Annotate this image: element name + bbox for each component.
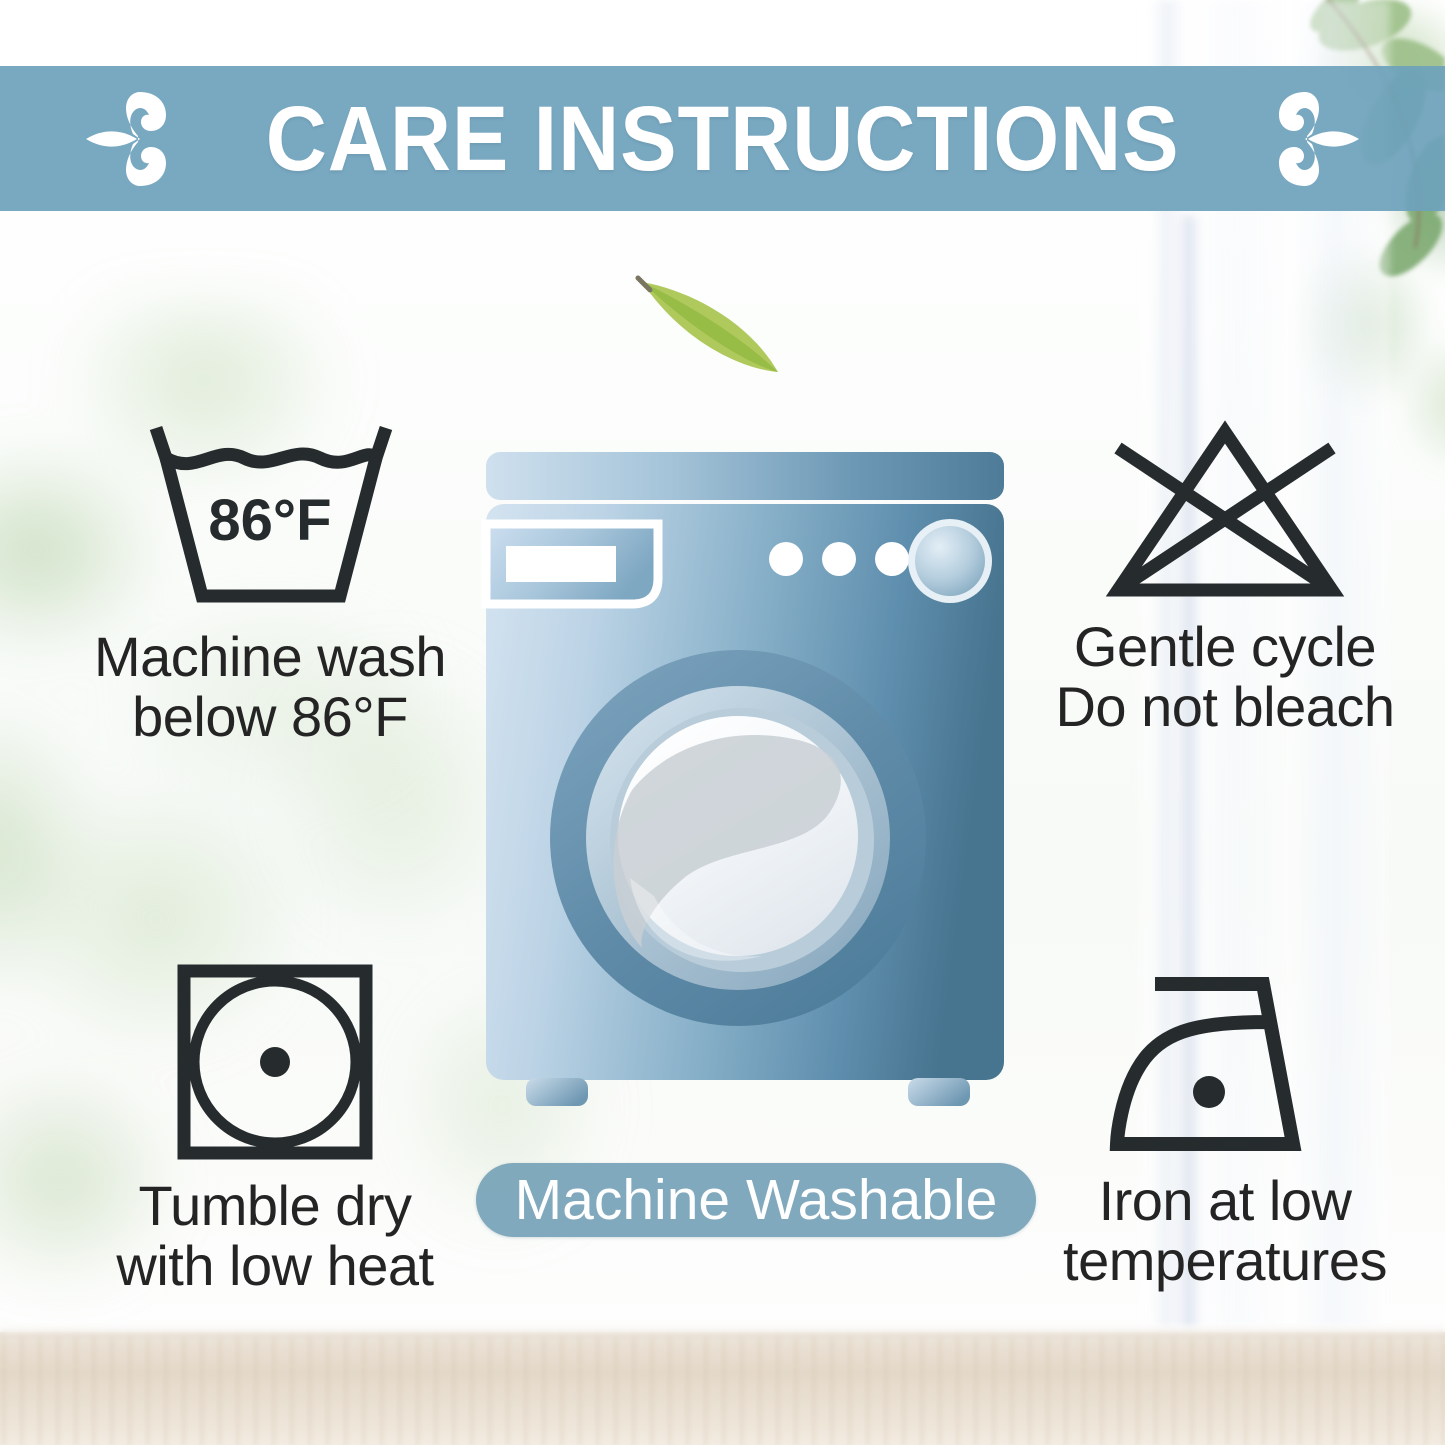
header-banner: CARE INSTRUCTIONS (0, 66, 1445, 211)
washer-door (550, 650, 926, 1026)
drawer-handle (506, 546, 616, 582)
symbol-caption: Machine wash below 86°F (94, 627, 446, 748)
symbol-do-not-bleach: Gentle cycle Do not bleach (1010, 418, 1440, 738)
machine-top-panel (486, 452, 1004, 500)
symbol-tumble-dry: Tumble dry with low heat (50, 962, 500, 1297)
wash-temperature-label: 86°F (208, 488, 331, 553)
machine-feet (526, 1078, 970, 1106)
symbol-caption: Tumble dry with low heat (116, 1176, 433, 1297)
control-indicator-dots (769, 542, 909, 576)
floating-leaf-icon (628, 268, 808, 388)
control-knob (908, 519, 992, 603)
care-instructions-infographic: CARE INSTRUCTIONS 86°F Machine wash belo… (0, 0, 1445, 1445)
fleur-de-lis-icon (80, 84, 200, 194)
table-edge (0, 1325, 1445, 1339)
badge-label: Machine Washable (515, 1172, 998, 1229)
symbol-machine-wash: 86°F Machine wash below 86°F (40, 418, 500, 748)
page-title: CARE INSTRUCTIONS (266, 93, 1180, 185)
symbol-caption: Iron at low temperatures (1063, 1171, 1387, 1292)
washing-machine-illustration (480, 448, 1010, 1120)
crossed-triangle-icon (1100, 418, 1350, 603)
machine-washable-badge: Machine Washable (476, 1163, 1036, 1237)
iron-icon (1105, 972, 1345, 1157)
fleur-de-lis-icon (1245, 84, 1365, 194)
tumble-dry-icon (175, 962, 375, 1162)
table-wood-grain (0, 1332, 1445, 1445)
symbol-iron-low: Iron at low temperatures (1000, 972, 1445, 1292)
symbol-caption: Gentle cycle Do not bleach (1055, 617, 1394, 738)
wash-tub-icon: 86°F (140, 418, 400, 613)
detergent-drawer (486, 524, 658, 604)
